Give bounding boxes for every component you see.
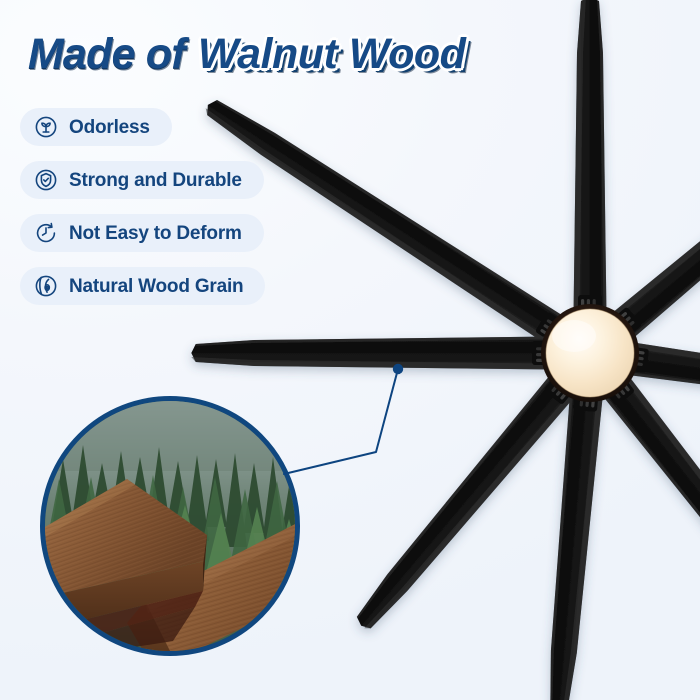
feature-pill-natural-wood-grain[interactable]: Natural Wood Grain <box>20 267 265 305</box>
feature-pill-label: Strong and Durable <box>69 171 242 190</box>
shield-check-circle-icon <box>34 168 58 192</box>
feature-pill-label: Odorless <box>69 118 150 137</box>
feature-pill-not-easy-to-deform[interactable]: Not Easy to Deform <box>20 214 264 252</box>
feature-pill-odorless[interactable]: Odorless <box>20 108 172 146</box>
clock-rotate-icon <box>34 221 58 245</box>
feature-list: Odorless Strong and Durable Not Easy to … <box>20 108 265 305</box>
product-feature-graphic: Made of Walnut Wood Odorless Strong and … <box>0 0 700 700</box>
feature-pill-strong-and-durable[interactable]: Strong and Durable <box>20 161 264 199</box>
plant-sprout-circle-icon <box>34 115 58 139</box>
walnut-wood-photo <box>45 401 300 656</box>
wood-grain-circle-icon <box>34 274 58 298</box>
headline: Made of Walnut Wood <box>28 30 465 79</box>
headline-plain-text: Made of <box>28 30 185 79</box>
headline-highlight-text: Walnut Wood <box>198 30 466 79</box>
feature-pill-label: Natural Wood Grain <box>69 277 243 296</box>
walnut-wood-closeup-inset <box>40 396 300 656</box>
feature-pill-label: Not Easy to Deform <box>69 224 242 243</box>
